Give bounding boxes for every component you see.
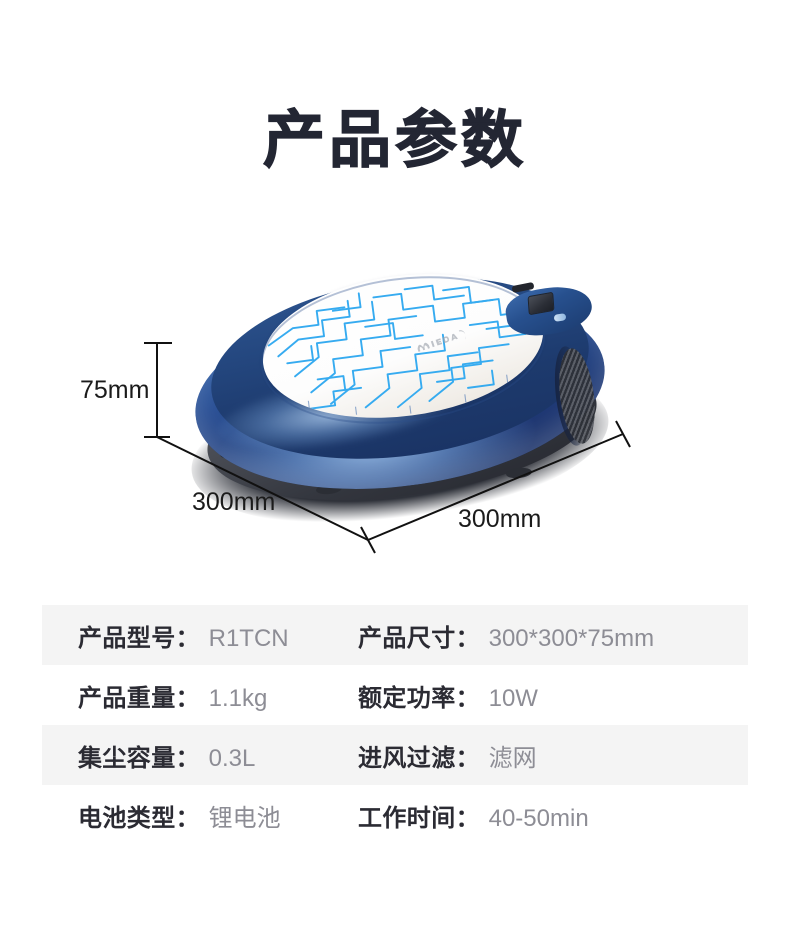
spec-label: 产品重量 <box>78 678 176 713</box>
table-row: 产品型号 ： R1TCN 产品尺寸 ： 300*300*75mm <box>42 605 748 665</box>
page-title: 产品参数 <box>0 104 790 176</box>
spec-label: 产品型号 <box>78 618 176 653</box>
spec-label: 集尘容量 <box>78 738 176 773</box>
table-row: 产品重量 ： 1.1kg 额定功率 ： 10W <box>42 665 748 725</box>
spec-label: 额定功率 <box>358 678 456 713</box>
spec-cell-runtime: 工作时间 ： 40-50min <box>358 798 748 833</box>
spec-value: R1TCN <box>209 625 289 653</box>
spec-cell-filter: 进风过滤 ： 滤网 <box>358 738 748 773</box>
spec-label: 进风过滤 <box>358 738 456 773</box>
spec-label: 工作时间 <box>358 798 456 833</box>
spec-value: 锂电池 <box>209 798 281 833</box>
spec-colon: ： <box>456 678 480 713</box>
spec-colon: ： <box>176 678 200 713</box>
spec-value: 滤网 <box>489 738 537 773</box>
spec-cell-power: 额定功率 ： 10W <box>358 678 748 713</box>
spec-label: 产品尺寸 <box>358 618 456 653</box>
spec-cell-size: 产品尺寸 ： 300*300*75mm <box>358 618 748 653</box>
spec-value: 300*300*75mm <box>489 625 654 653</box>
spec-colon: ： <box>456 798 480 833</box>
spec-cell-dustbin: 集尘容量 ： 0.3L <box>42 738 358 773</box>
robot-vacuum-render <box>176 262 624 514</box>
spec-colon: ： <box>176 618 200 653</box>
spec-value: 1.1kg <box>209 685 268 713</box>
spec-colon: ： <box>456 738 480 773</box>
spec-value: 0.3L <box>209 745 256 773</box>
table-row: 集尘容量 ： 0.3L 进风过滤 ： 滤网 <box>42 725 748 785</box>
spec-table: 产品型号 ： R1TCN 产品尺寸 ： 300*300*75mm 产品重量 ： … <box>42 605 748 845</box>
product-hero-image <box>0 250 790 570</box>
spec-colon: ： <box>176 798 200 833</box>
spec-colon: ： <box>176 738 200 773</box>
spec-cell-model: 产品型号 ： R1TCN <box>42 618 358 653</box>
spec-cell-weight: 产品重量 ： 1.1kg <box>42 678 358 713</box>
spec-value: 40-50min <box>489 805 589 833</box>
spec-value: 10W <box>489 685 538 713</box>
spec-cell-battery: 电池类型 ： 锂电池 <box>42 798 358 833</box>
table-row: 电池类型 ： 锂电池 工作时间 ： 40-50min <box>42 785 748 845</box>
spec-label: 电池类型 <box>78 798 176 833</box>
product-spec-page: 产品参数 <box>0 0 790 929</box>
spec-colon: ： <box>456 618 480 653</box>
